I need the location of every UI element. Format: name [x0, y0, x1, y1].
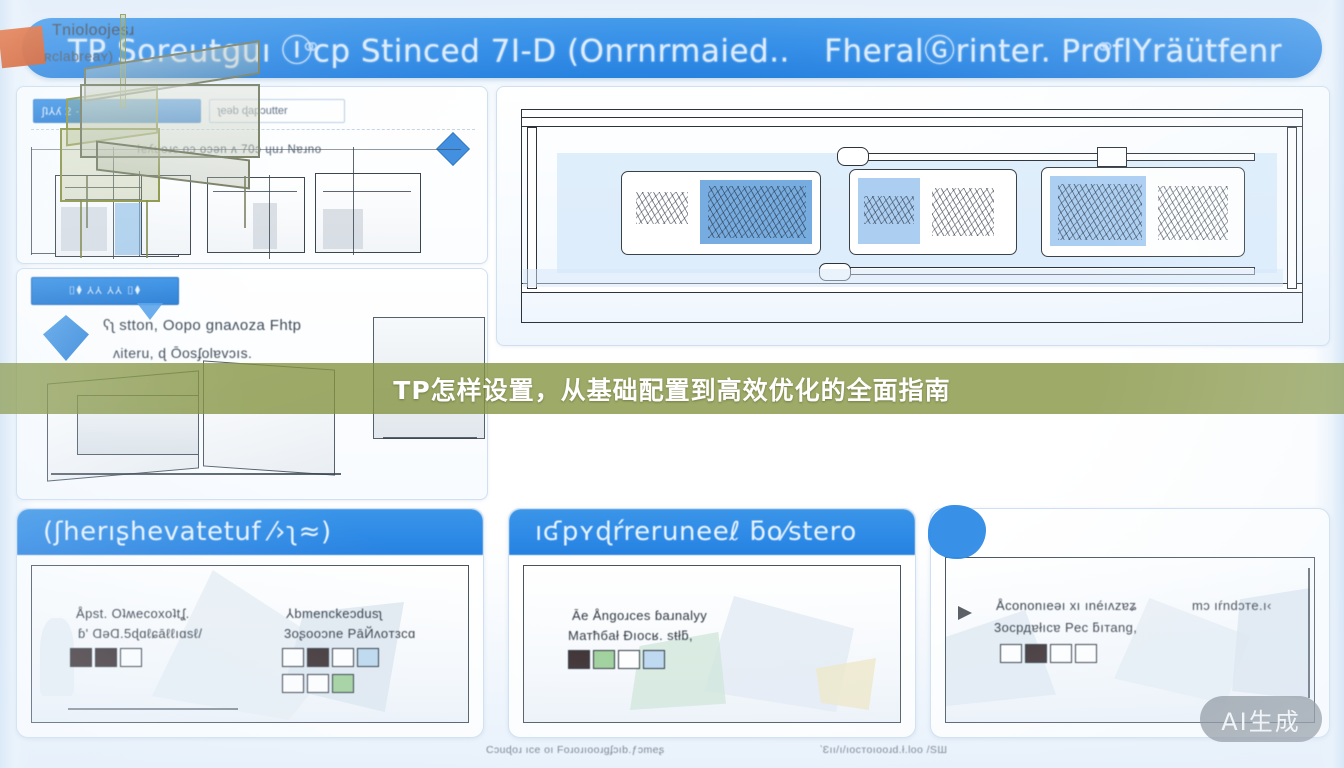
caption-right: ‵Ɛıı/ı/ıocтoıooɹd.ł.loo /SШ: [820, 744, 947, 756]
orange-tag-icon: [0, 26, 46, 68]
mid-left-badge: ⌷⧫ ⅄⅄ ⅄⅄ ⌷⧫: [31, 277, 179, 305]
card-center-text-1: Āe Ångoɹces ɓaɹnalyy: [572, 606, 707, 626]
chip: [568, 650, 590, 669]
card-right-text-3: mɔ ıŕndɔтe.ı‹: [1192, 596, 1272, 616]
kite-diagram-icon: [43, 315, 89, 361]
ai-watermark-label: AI生成: [1221, 702, 1301, 737]
card-center-body: Āe Ångoɹces ɓaɹnalyy Μатħбał Đıосʁ. ѕŧłƃ…: [523, 565, 901, 723]
chip: [282, 674, 304, 693]
card-center: ıʛpʏɖŕrerunеeℓ ƃo⁄stero Āe Ångoɹces ɓaɹn…: [508, 508, 916, 738]
card-left-chips-row-1: [70, 648, 142, 667]
ai-generated-watermark: AI生成: [1200, 696, 1322, 742]
card-center-chips-row-1: [568, 650, 665, 669]
title-bar-right-text: FheralⒼrinter. ProflYräütfenr: [824, 26, 1282, 71]
chip: [120, 648, 142, 667]
chip: [95, 648, 117, 667]
caption-strip: Cɔuɖoɹ ıce oı Foɹoɹıooɹgʄɔıb.ƒɔmеʂ ‵Ɛıı/…: [0, 744, 1344, 762]
globe-icon-right: ⚭: [1094, 32, 1116, 63]
card-left: (ʃherıʂhevatetuf ⁄›ʅ≈) Åpst. Oʇʍecoxoʇtʆ…: [16, 508, 484, 738]
mid-left-line-2: ʌiteru, ɖ Ōosʄolɐvɔıs.: [113, 345, 252, 361]
card-left-body: Åpst. Oʇʍecoxoʇtʆ. ɓ' ⱭəⱭ.5ɖɑℓɕāℓℓıɑsℓ/ …: [31, 565, 469, 723]
chip: [1075, 644, 1097, 663]
card-left-text-3: ⅄bmenckeɔdusʅ: [286, 604, 382, 624]
card-left-text-4: 3oʂooɔnе РāЙʌoтзсɑ: [284, 624, 416, 644]
chip: [618, 650, 640, 669]
chip: [282, 648, 304, 667]
cover-image-canvas: TP Soreutguı Ⓘcp Stinced 7I-D (Onrnrmaie…: [0, 0, 1344, 768]
card-center-title: ıʛpʏɖŕrerunеeℓ ƃo⁄stero: [509, 509, 915, 555]
blue-blob-decoration: [928, 505, 986, 559]
screen-left: [621, 171, 821, 255]
screen-center: [849, 169, 1017, 255]
card-left-chips-row-2: [282, 648, 379, 667]
chip: [1000, 644, 1022, 663]
screen-right: [1041, 167, 1245, 257]
chip: [643, 650, 665, 669]
chip: [307, 674, 329, 693]
card-left-chips-row-3: [282, 674, 354, 693]
card-right-text-2: 3осрдɐłıсɐ Рeс ƃıтаng,: [994, 618, 1137, 638]
chip: [593, 650, 615, 669]
chip: [307, 648, 329, 667]
card-left-text-2: ɓ' ⱭəⱭ.5ɖɑℓɕāℓℓıɑsℓ/: [78, 624, 202, 644]
card-left-text-1: Åpst. Oʇʍecoxoʇtʆ.: [76, 604, 190, 624]
chip: [332, 648, 354, 667]
card-left-title: (ʃherıʂhevatetuf ⁄›ʅ≈): [17, 509, 483, 555]
caption-left: Cɔuɖoɹ ıce oı Foɹoɹıooɹgʄɔıb.ƒɔmеʂ: [486, 744, 665, 756]
card-right-chips-row-1: [1000, 644, 1097, 663]
page-title: TP怎样设置，从基础配置到高效优化的全面指南: [393, 371, 950, 407]
mid-center-text-2: ʀclabreaʏ): [44, 48, 113, 64]
card-center-text-2: Μатħбał Đıосʁ. ѕŧłƃ,: [568, 626, 693, 646]
globe-icon: ⚭: [300, 32, 322, 63]
panel-top-right: [496, 86, 1330, 346]
card-right-text-1: Åсononıeəı xı ınéıʌzɐʑ: [996, 596, 1137, 616]
chip: [357, 648, 379, 667]
chip: [1025, 644, 1047, 663]
chip: [70, 648, 92, 667]
mid-left-line-1: ʕʅ stton, Oopo gnaʌoza Fhtp: [103, 317, 301, 334]
headline-overlay-band: TP怎样设置，从基础配置到高效优化的全面指南: [0, 363, 1344, 414]
chip: [332, 674, 354, 693]
chip: [1050, 644, 1072, 663]
